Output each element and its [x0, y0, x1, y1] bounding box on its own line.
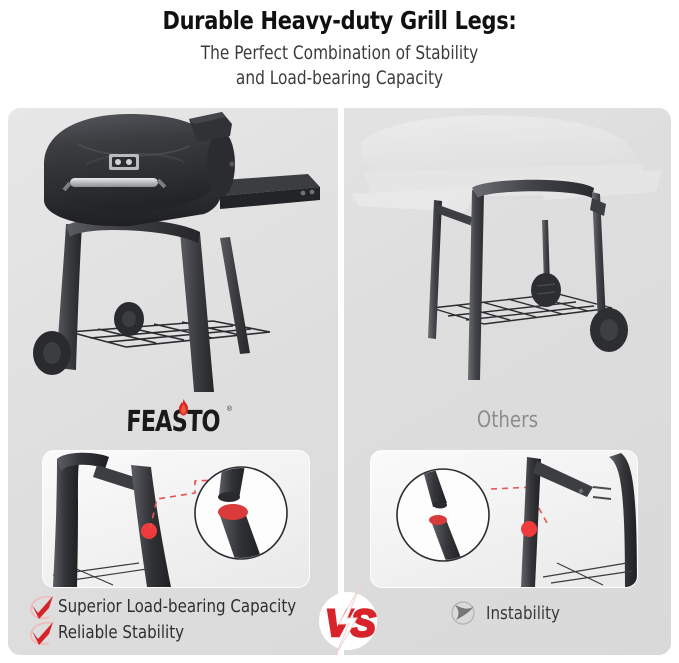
- subtitle-line-1: The Perfect Combination of Stability: [34, 41, 645, 66]
- gray-cross-icon: [450, 600, 478, 626]
- subtitle-line-2: and Load-bearing Capacity: [34, 66, 645, 91]
- registered-mark: ®: [227, 406, 232, 413]
- red-dot-marker: [141, 523, 157, 539]
- lid-handle: [70, 178, 158, 187]
- others-label: Others: [357, 406, 658, 436]
- feasto-logo-text: FEASTO: [125, 404, 221, 438]
- red-check-icon: [28, 594, 58, 621]
- list-item: Superior Load-bearing Capacity: [8, 594, 338, 620]
- comparison-panel-feasto: FEASTO ®: [8, 108, 338, 655]
- leg-front-right: [180, 232, 214, 392]
- comparison-board: FEASTO ®: [8, 108, 671, 655]
- thin-leg-right: [609, 453, 637, 587]
- infographic-root: Durable Heavy-duty Grill Legs: The Perfe…: [0, 0, 679, 663]
- vs-badge: VS: [311, 584, 385, 655]
- faded-grill-body: [352, 115, 662, 212]
- list-item: Reliable Stability: [8, 620, 338, 646]
- comparison-panel-others: Others: [344, 108, 671, 655]
- wire-shelf: [432, 294, 612, 324]
- red-check-icon: [28, 620, 58, 647]
- panel-divider: [338, 108, 344, 655]
- leg-left-thin: [428, 200, 442, 339]
- thick-leg-left: [53, 459, 79, 587]
- red-dot-marker: [521, 521, 537, 537]
- tube-cross-section-red: [429, 515, 447, 525]
- detail-callout-others: [370, 450, 638, 588]
- page-title: Durable Heavy-duty Grill Legs:: [24, 0, 655, 33]
- benefit-list: Superior Load-bearing Capacity Reliable …: [8, 594, 338, 654]
- brand-row-others: Others: [344, 400, 671, 448]
- list-item-label: Reliable Stability: [58, 620, 184, 646]
- flame-icon: [176, 399, 191, 416]
- detail-callout-feasto: [42, 450, 310, 588]
- brace-right: [590, 198, 606, 216]
- others-grill-image: [344, 108, 671, 400]
- diagonal-brace: [533, 461, 593, 497]
- feasto-grill-image: [8, 108, 338, 400]
- feasto-logo: FEASTO ®: [118, 404, 228, 438]
- tube-cross-section-red: [218, 504, 248, 520]
- drawback-list: Instability: [344, 600, 671, 627]
- brand-row-feasto: FEASTO ®: [8, 400, 338, 448]
- list-item-label: Superior Load-bearing Capacity: [58, 594, 296, 620]
- header: Durable Heavy-duty Grill Legs: The Perfe…: [0, 0, 679, 104]
- drawback-label: Instability: [486, 601, 560, 627]
- page-subtitle: The Perfect Combination of Stability and…: [34, 33, 645, 91]
